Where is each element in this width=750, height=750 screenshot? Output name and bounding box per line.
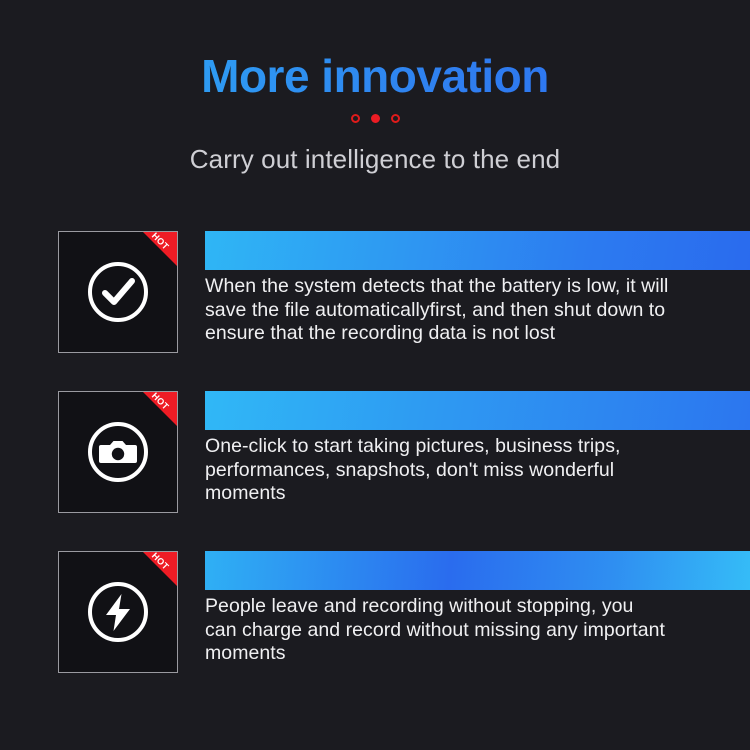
hero-subtitle: Carry out intelligence to the end xyxy=(0,124,750,175)
feature-text-block: Record while charging People leave and r… xyxy=(178,551,750,666)
feature-icon-box: HOT xyxy=(58,231,178,353)
feature-list: HOT More innovation When the system dete… xyxy=(0,231,750,673)
hero-title: More innovation xyxy=(0,0,750,100)
feature-item: HOT Record while charging People leave a… xyxy=(0,551,750,673)
feature-icon-box: HOT xyxy=(58,551,178,673)
camera-circle-icon xyxy=(87,421,149,483)
feature-title: Record while charging xyxy=(205,551,750,590)
feature-item: HOT Creative photo One-click to start ta… xyxy=(0,391,750,513)
feature-description: People leave and recording without stopp… xyxy=(205,590,665,666)
promo-page: More innovation Carry out intelligence t… xyxy=(0,0,750,750)
feature-title: Creative photo xyxy=(205,391,750,430)
check-circle-icon xyxy=(87,261,149,323)
hot-ribbon-shape xyxy=(143,392,177,426)
lightning-circle-icon xyxy=(87,581,149,643)
dot-indicator-3 xyxy=(391,114,400,123)
feature-icon-box: HOT xyxy=(58,391,178,513)
hot-ribbon-shape xyxy=(143,232,177,266)
hero-section: More innovation Carry out intelligence t… xyxy=(0,0,750,175)
feature-description: One-click to start taking pictures, busi… xyxy=(205,430,675,506)
dot-indicator-2 xyxy=(371,114,380,123)
feature-description: When the system detects that the battery… xyxy=(205,270,675,346)
dot-indicator-group xyxy=(0,112,750,124)
feature-item: HOT More innovation When the system dete… xyxy=(0,231,750,353)
feature-text-block: Creative photo One-click to start taking… xyxy=(178,391,750,506)
dot-indicator-1 xyxy=(351,114,360,123)
feature-text-block: More innovation When the system detects … xyxy=(178,231,750,346)
hot-ribbon-shape xyxy=(143,552,177,586)
feature-title: More innovation xyxy=(205,231,750,270)
